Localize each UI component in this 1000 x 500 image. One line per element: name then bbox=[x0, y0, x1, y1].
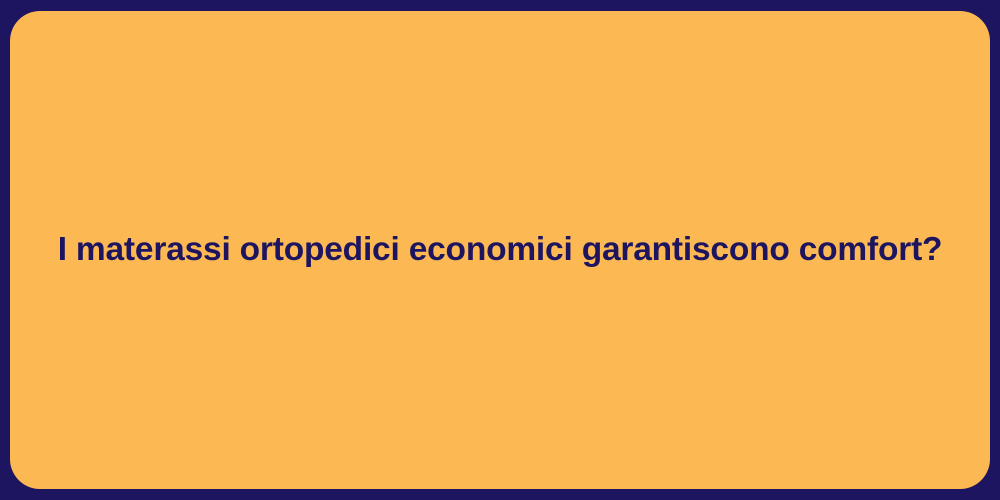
card-inner-panel: I materassi ortopedici economici garanti… bbox=[10, 11, 990, 489]
card-outer-frame: I materassi ortopedici economici garanti… bbox=[0, 0, 1000, 500]
card-heading-text: I materassi ortopedici economici garanti… bbox=[58, 229, 943, 271]
